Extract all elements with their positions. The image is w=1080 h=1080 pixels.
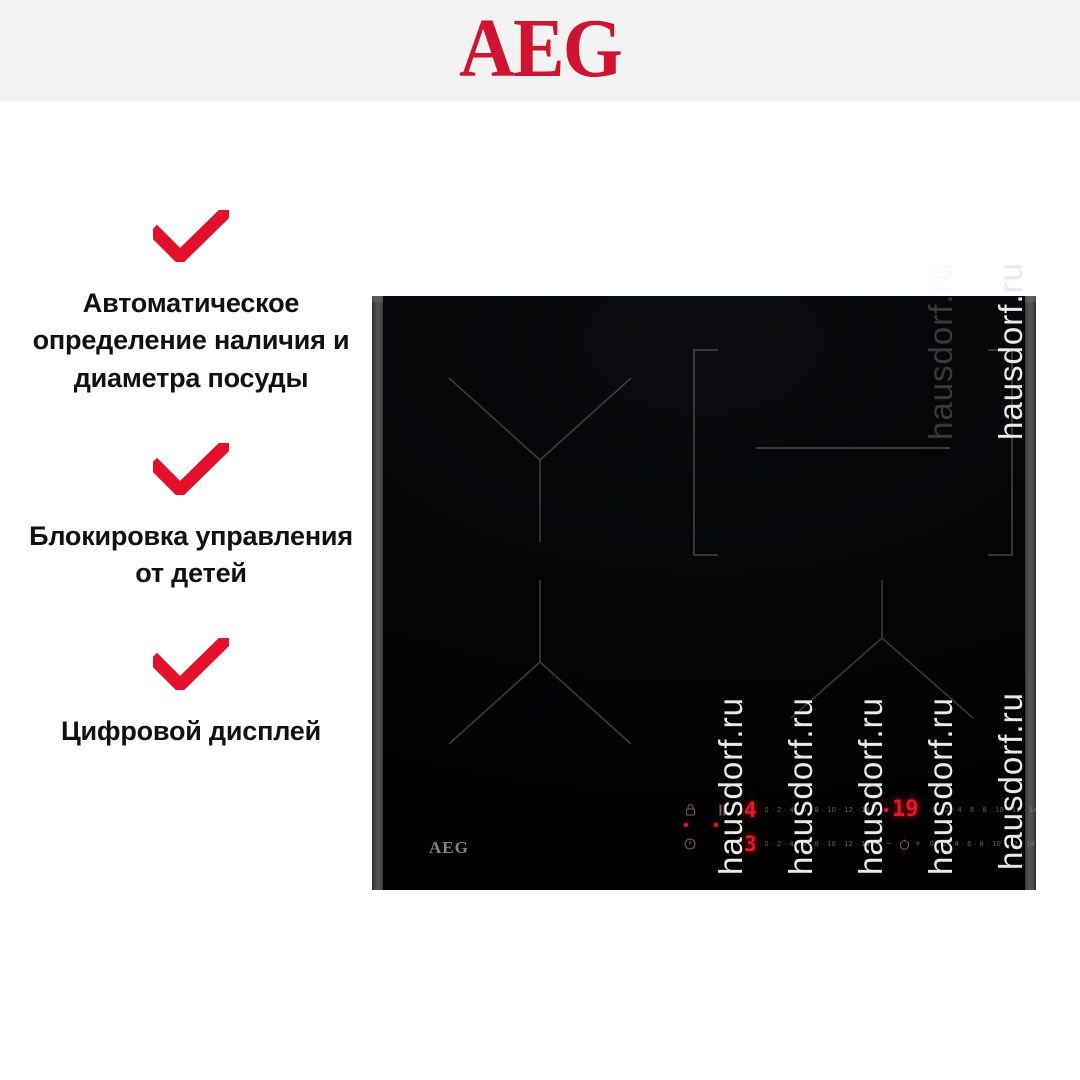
- hob-control-panel[interactable]: 4 0 · 2 · 4 · 6 · 8 · 10 · 12 · 14 P 19 …: [680, 796, 1015, 862]
- timer-indicator-dot: [884, 808, 888, 812]
- hob-glass-surface: AEG 4: [383, 296, 1025, 890]
- cooking-zone-front-right: [787, 578, 977, 748]
- padlock-icon[interactable]: [680, 804, 700, 816]
- check-icon: [18, 638, 364, 695]
- control-row-top: 4 0 · 2 · 4 · 6 · 8 · 10 · 12 · 14 P 19 …: [680, 796, 1015, 824]
- cooking-zone-bridge-rear-right: [688, 344, 1018, 561]
- hob-side-trim-right: [1025, 296, 1036, 890]
- feature-label: Блокировка управления от детей: [18, 518, 364, 593]
- left-zone-slider-scale-top[interactable]: 0 · 2 · 4 · 6 · 8 · 10 · 12 · 14 P: [765, 807, 878, 814]
- right-zone-slider-scale-top[interactable]: 0 · 2 · 4 · 6 · 8 · 10 · 12 · 14 P: [933, 807, 1036, 814]
- pause-icon[interactable]: [712, 804, 732, 816]
- feature-item-auto-pan-detection: Автоматическое определение наличия и диа…: [18, 210, 364, 397]
- cooking-zone-front-left: [445, 578, 635, 748]
- hob-brand-etch: AEG: [429, 838, 469, 858]
- header-band: AEG: [0, 0, 1080, 101]
- timer-value: 19: [892, 799, 919, 821]
- aeg-logo: AEG: [459, 7, 621, 91]
- product-image-induction-hob: AEG 4: [372, 296, 1036, 890]
- feature-item-digital-display: Цифровой дисплей: [18, 638, 364, 750]
- right-zone-slider-scale-bottom[interactable]: 0 · 2 · 4 · 6 · 8 · 10 · 12 · 14 P: [930, 841, 1036, 848]
- hob-trim-cap: [372, 296, 383, 302]
- feature-list: Автоматическое определение наличия и диа…: [18, 210, 364, 751]
- hob-trim-cap: [1025, 296, 1036, 302]
- left-zone-level-bottom: 3: [744, 834, 757, 855]
- left-zone-slider-scale-bottom[interactable]: 0 · 2 · 4 · 6 · 8 · 10 · 12 · 14 P: [765, 841, 878, 848]
- feature-item-child-lock: Блокировка управления от детей: [18, 443, 364, 593]
- check-icon: [18, 443, 364, 500]
- control-row-bottom: 3 0 · 2 · 4 · 6 · 8 · 10 · 12 · 14 P − +…: [680, 830, 1015, 858]
- power-icon[interactable]: [680, 838, 700, 850]
- feature-label: Автоматическое определение наличия и диа…: [18, 285, 364, 397]
- feature-label: Цифровой дисплей: [18, 713, 364, 750]
- timer-icon[interactable]: [895, 839, 915, 850]
- hob-side-trim-left: [372, 296, 383, 890]
- check-icon: [18, 210, 364, 267]
- lock-indicator-dot: [684, 823, 688, 827]
- control-indicator-dots: [684, 823, 754, 827]
- timer-minus-button[interactable]: −: [886, 839, 895, 850]
- timer-plus-button[interactable]: +: [915, 839, 924, 850]
- cooking-zone-rear-left: [445, 374, 635, 544]
- left-zone-level-top: 4: [744, 800, 757, 821]
- pause-indicator-dot: [714, 823, 718, 827]
